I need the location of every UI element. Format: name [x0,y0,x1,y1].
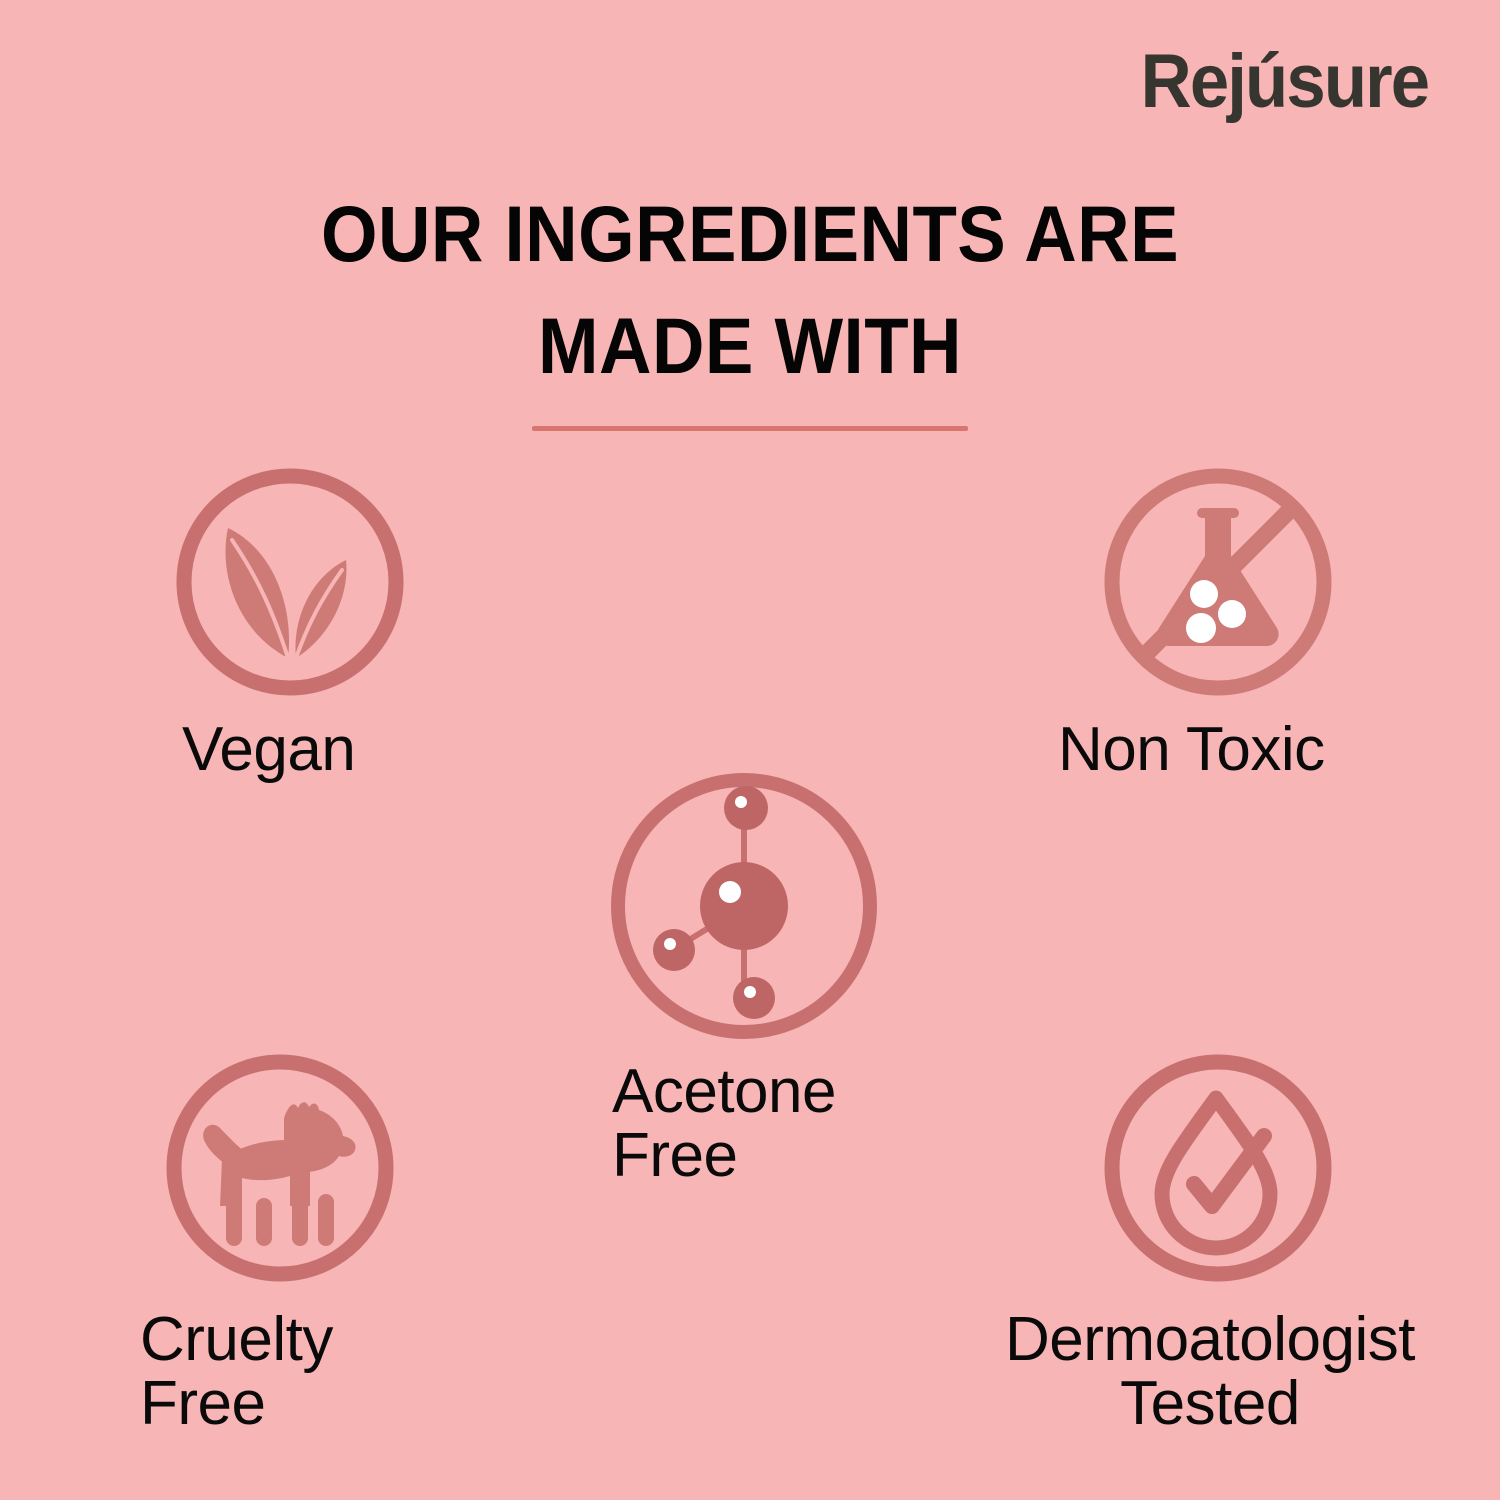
badge-dermatologist-tested-label: Dermoatologist Tested [950,1308,1470,1437]
badge-vegan: Vegan [166,462,466,782]
headline-block: OUR INGREDIENTS ARE MADE WITH [0,178,1500,431]
headline-line-2: MADE WITH [60,290,1440,402]
infographic-canvas: Rejúsure OUR INGREDIENTS ARE MADE WITH V… [0,0,1500,1500]
badge-acetone-free: Acetone Free [604,766,904,1189]
headline-line-1: OUR INGREDIENTS ARE [60,178,1440,290]
badge-vegan-label: Vegan [182,718,466,782]
brand-logo: Rejúsure [1140,44,1428,120]
droplet-check-icon [1098,1048,1336,1286]
badge-acetone-free-label: Acetone Free [612,1060,904,1189]
no-flask-icon [1098,462,1336,700]
badge-dermatologist-tested: Dermoatologist Tested [1098,1048,1398,1437]
badge-cruelty-free: Cruelty Free [160,1048,460,1437]
badge-cruelty-free-label: Cruelty Free [140,1308,460,1437]
molecule-icon [604,766,884,1046]
badge-non-toxic-label: Non Toxic [1058,718,1448,782]
leaves-icon [170,462,408,700]
headline-underline [532,426,968,431]
dog-icon [160,1048,398,1286]
badge-non-toxic: Non Toxic [1098,462,1398,782]
